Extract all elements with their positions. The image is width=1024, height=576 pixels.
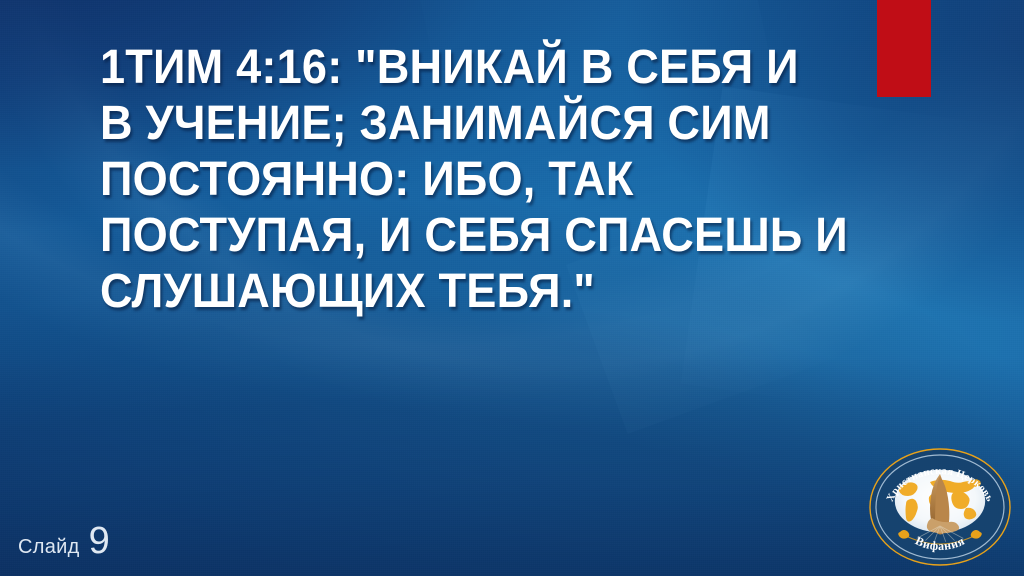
slide-number-value: 9 (89, 522, 110, 560)
verse-line-1: 1ТИМ 4:16: "ВНИКАЙ В СЕБЯ И (100, 40, 927, 96)
slide-number-indicator: Слайд 9 (18, 522, 110, 560)
slide-number-label: Слайд (18, 536, 80, 559)
presentation-slide: 1ТИМ 4:16: "ВНИКАЙ В СЕБЯ И В УЧЕНИЕ; ЗА… (0, 0, 1024, 576)
verse-line-2: В УЧЕНИЕ; ЗАНИМАЙСЯ СИМ (100, 96, 927, 152)
church-logo: Христианская Церковь Вифания (868, 446, 1012, 568)
verse-line-3: ПОСТОЯННО: ИБО, ТАК (100, 152, 927, 208)
verse-text-block: 1ТИМ 4:16: "ВНИКАЙ В СЕБЯ И В УЧЕНИЕ; ЗА… (100, 40, 927, 320)
verse-line-5: СЛУШАЮЩИХ ТЕБЯ." (100, 264, 927, 320)
verse-line-4: ПОСТУПАЯ, И СЕБЯ СПАСЕШЬ И (100, 208, 927, 264)
